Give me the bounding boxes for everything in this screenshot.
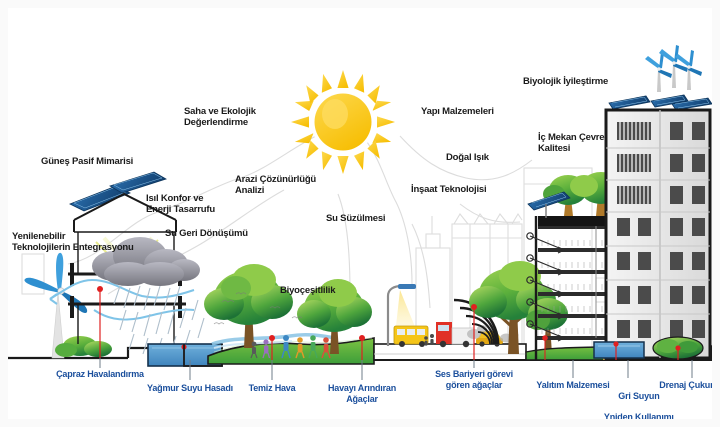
label-biyolojik-iyilestirme: Biyolojik İyileştirme — [523, 76, 608, 87]
label-ic-mekan-cevre-kalitesi: İç Mekan Çevre Kalitesi — [538, 132, 604, 154]
callout-drenaj-cukuru: Drenaj Çukuru — [644, 380, 712, 391]
tower-solar-panels — [609, 95, 712, 110]
bus — [394, 326, 428, 347]
label-biyocesitlilik: Biyoçeşitlilik — [280, 285, 335, 296]
high-rise-building — [606, 45, 712, 358]
label-gunes-pasif-mimarisi: Güneş Pasif Mimarisi — [41, 156, 133, 167]
sun-icon — [291, 70, 395, 174]
tower-louvre-windows — [617, 122, 651, 204]
label-su-suzulmesi: Su Süzülmesi — [326, 213, 385, 224]
label-isil-konfor-ve-enerji-tasarrufu: Isıl Konfor ve Enerji Tasarrufu — [146, 193, 215, 215]
greywater-tank — [594, 341, 644, 360]
diagram-canvas: Saha ve Ekolojik Değerlendirme Güneş Pas… — [8, 8, 712, 419]
shrub-left — [55, 336, 112, 357]
road — [374, 344, 526, 360]
label-yapi-malzemeleri: Yapı Malzemeleri — [421, 106, 494, 117]
callout-temiz-hava: Temiz Hava — [230, 383, 314, 394]
callout-havayi-arindiran-agaclar: Havayı Arındıran Ağaçlar — [308, 383, 416, 404]
label-saha-ve-ekolojik-degerlendirme: Saha ve Ekolojik Değerlendirme — [184, 106, 256, 128]
label-dogal-isik: Doğal Işık — [446, 152, 489, 163]
diagram-screenshot: Saha ve Ekolojik Değerlendirme Güneş Pas… — [0, 0, 720, 427]
label-yenilenebilir-teknolojilerin-entegrasyonu: Yenilenebilir Teknolojilerin Entegrasyon… — [12, 231, 134, 253]
gri-suyun-line2-rest: Kullanımı — [633, 412, 674, 419]
gri-suyun-underlined-word: Yniden — [604, 412, 633, 419]
callout-capraz-havalandirma: Çapraz Havalandırma — [30, 369, 170, 380]
label-arazi-cozunurlugu-analizi: Arazi Çözünürlüğü Analizi — [235, 174, 316, 196]
gri-suyun-line1: Gri Suyun — [618, 391, 659, 401]
label-su-geri-donusumu: Su Geri Dönüşümü — [165, 228, 248, 239]
roof-wind-turbines — [645, 45, 702, 92]
label-insaat-teknolojisi: İnşaat Teknolojisi — [411, 184, 486, 195]
